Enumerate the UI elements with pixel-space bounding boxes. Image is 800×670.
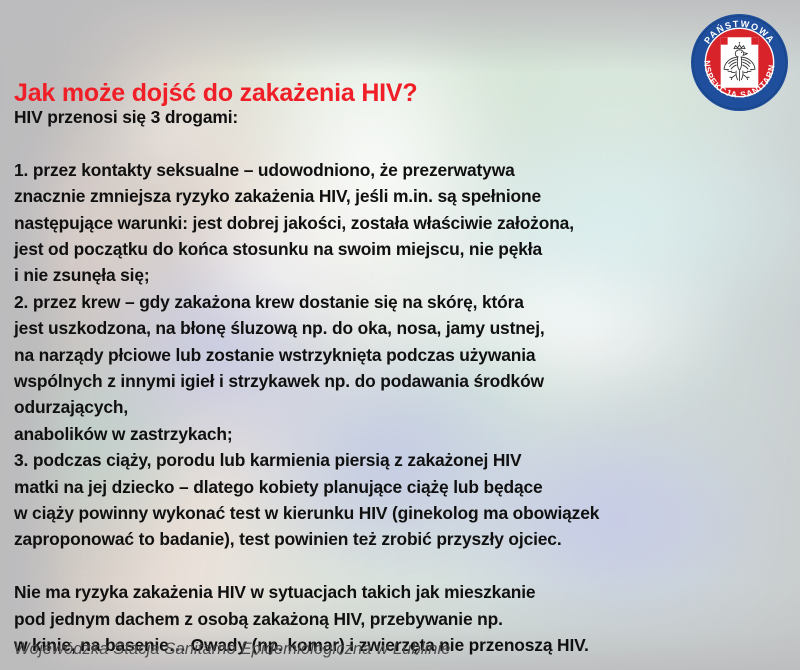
spacer-line-2 bbox=[14, 553, 784, 579]
transmission-line-5: i nie zsunęła się; bbox=[14, 262, 784, 288]
transmission-line-15: zaproponować to badanie), test powinien … bbox=[14, 526, 784, 552]
spacer-line bbox=[14, 130, 784, 156]
intro-line: HIV przenosi się 3 drogami: bbox=[14, 104, 784, 130]
poster-canvas: Jak może dojść do zakażenia HIV? HIV prz… bbox=[0, 0, 800, 670]
transmission-line-1: 1. przez kontakty seksualne – udowodnion… bbox=[14, 157, 784, 183]
poster-body: HIV przenosi się 3 drogami: 1. przez kon… bbox=[14, 104, 784, 659]
no-risk-line-1: Nie ma ryzyka zakażenia HIV w sytuacjach… bbox=[14, 579, 784, 605]
panstwowa-inspekcja-sanitarna-logo: PAŃSTWOWA INSPEKCJA SANITARNA bbox=[690, 13, 789, 112]
transmission-line-8: na narządy płciowe lub zostanie wstrzykn… bbox=[14, 342, 784, 368]
transmission-line-9: wspólnych z innymi igieł i strzykawek np… bbox=[14, 368, 784, 394]
transmission-line-12: 3. podczas ciąży, porodu lub karmienia p… bbox=[14, 447, 784, 473]
transmission-line-10: odurzających, bbox=[14, 394, 784, 420]
no-risk-line-2: pod jednym dachem z osobą zakażoną HIV, … bbox=[14, 606, 784, 632]
source-attribution: Wojewódzka Stacja Sanitarno Epidemiologi… bbox=[14, 640, 451, 659]
transmission-line-13: matki na jej dziecko – dlatego kobiety p… bbox=[14, 474, 784, 500]
poster-content: Jak może dojść do zakażenia HIV? HIV prz… bbox=[0, 0, 800, 670]
transmission-line-11: anabolików w zastrzykach; bbox=[14, 421, 784, 447]
transmission-line-3: następujące warunki: jest dobrej jakości… bbox=[14, 210, 784, 236]
transmission-line-2: znacznie zmniejsza ryzyko zakażenia HIV,… bbox=[14, 183, 784, 209]
transmission-line-7: jest uszkodzona, na błonę śluzową np. do… bbox=[14, 315, 784, 341]
transmission-line-4: jest od początku do końca stosunku na sw… bbox=[14, 236, 784, 262]
transmission-line-14: w ciąży powinny wykonać test w kierunku … bbox=[14, 500, 784, 526]
transmission-line-6: 2. przez krew – gdy zakażona krew dostan… bbox=[14, 289, 784, 315]
